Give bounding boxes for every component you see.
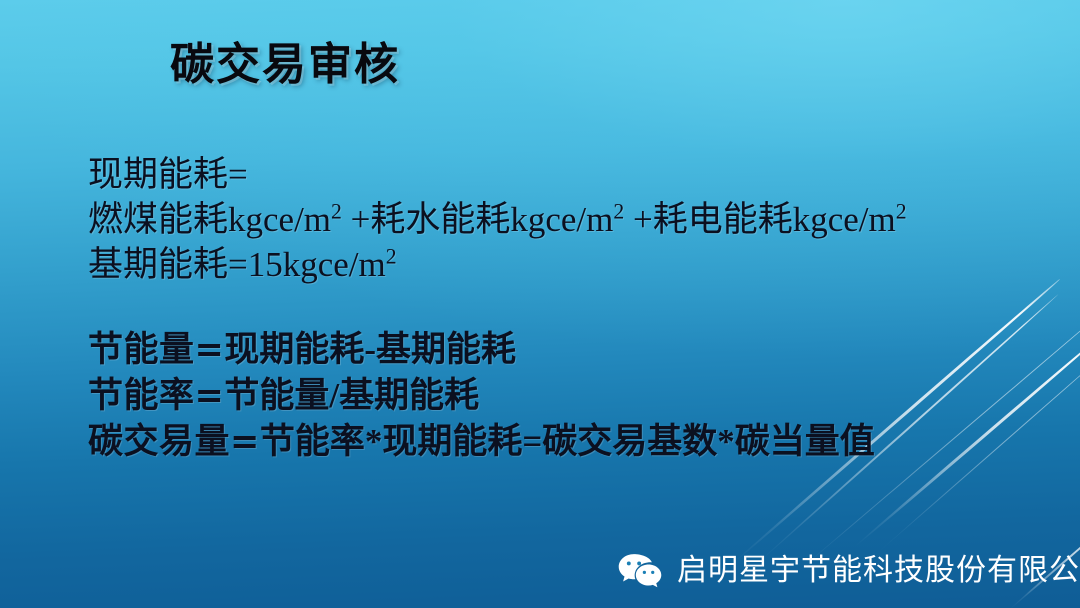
equals-sign: = [195,330,225,370]
formula-term-label: 碳交易量 [88,422,230,462]
text-line-base-consumption: 基期能耗=15kgce/m2 [88,242,1048,287]
text-line-current-consumption-formula: 燃煤能耗kgce/m2 +耗水能耗kgce/m2 +耗电能耗kgce/m2 [88,197,1048,242]
line-text: 现期能耗= [88,155,248,194]
equals-sign: = [195,376,225,416]
superscript: 2 [613,199,624,223]
formula-line-carbon-trading-volume: 碳交易量=节能率*现期能耗=碳交易基数*碳当量值 [88,419,1048,465]
formula-expression: 节能率*现期能耗=碳交易基数*碳当量值 [260,422,875,461]
line-spacer [88,287,1048,327]
formula-block: 现期能耗=燃煤能耗kgce/m2 +耗水能耗kgce/m2 +耗电能耗kgce/… [88,152,1048,465]
slide-canvas: 碳交易审核 现期能耗=燃煤能耗kgce/m2 +耗水能耗kgce/m2 +耗电能… [0,0,1080,608]
company-name: 启明星宇节能科技股份有限公司 [677,556,1080,586]
formula-line-energy-saving-amount: 节能量=现期能耗-基期能耗 [88,327,1048,373]
wechat-icon [617,552,663,590]
line-text: 基期能耗=15kgce/m [88,245,386,284]
formula-line-energy-saving-rate: 节能率=节能量/基期能耗 [88,373,1048,419]
equals-sign: = [230,422,260,462]
line-text: +耗水能耗kgce/m [342,200,614,239]
line-text: 燃煤能耗kgce/m [88,200,331,239]
superscript: 2 [331,199,342,223]
text-line-current-consumption-label: 现期能耗= [88,152,1048,197]
superscript: 2 [386,244,397,268]
footer-brand: 启明星宇节能科技股份有限公司 [617,552,1080,590]
formula-expression: 现期能耗-基期能耗 [224,330,516,369]
formula-term-label: 节能率 [88,376,195,416]
slide-title: 碳交易审核 [170,42,400,89]
superscript: 2 [896,199,907,223]
formula-expression: 节能量/基期能耗 [224,376,479,415]
formula-term-label: 节能量 [88,330,195,370]
line-text: +耗电能耗kgce/m [624,200,896,239]
